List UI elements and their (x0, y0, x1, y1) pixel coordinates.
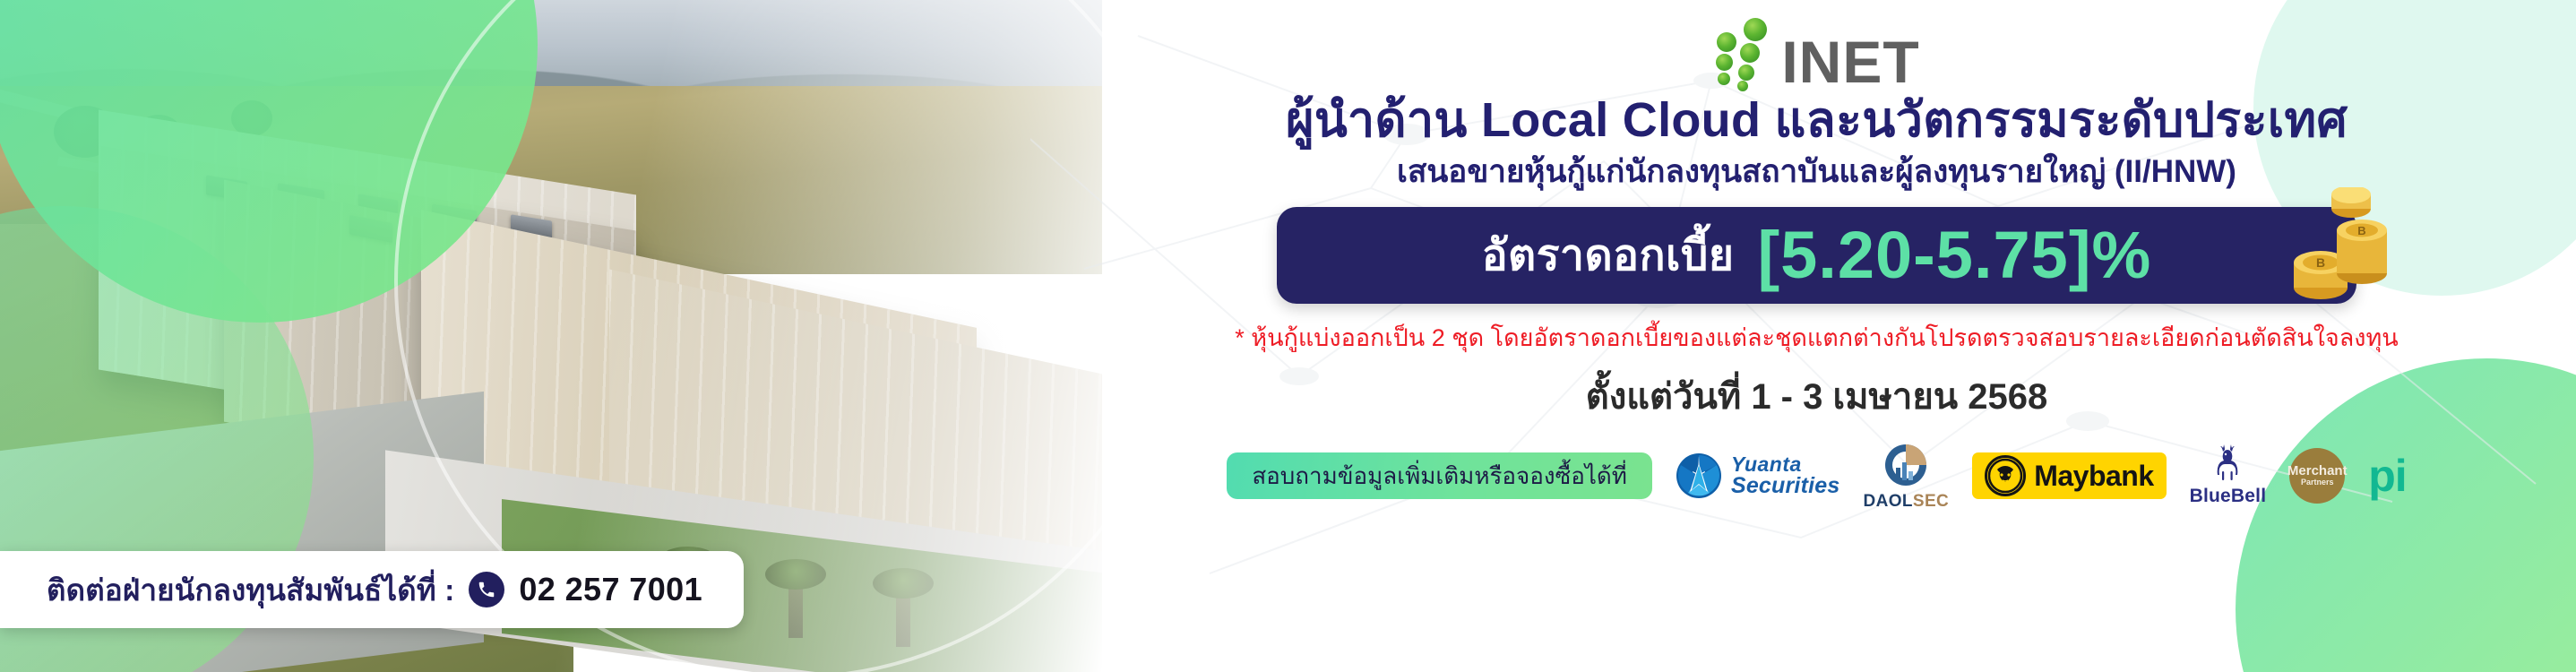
investor-relations-contact[interactable]: ติดต่อฝ่ายนักลงทุนสัมพันธ์ได้ที่ : 02 25… (0, 551, 744, 628)
svg-text:B: B (2357, 224, 2365, 237)
bluebell-deer-icon (2208, 444, 2247, 484)
merchant-line2: Partners (2301, 478, 2334, 488)
bluebell-wordmark: BlueBell (2190, 486, 2267, 507)
yuanta-star-icon (1676, 452, 1722, 499)
banner-content: INET ผู้นำด้าน Local Cloud และนวัตกรรมระ… (1057, 0, 2576, 672)
contact-label: ติดต่อฝ่ายนักลงทุนสัมพันธ์ได้ที่ : (47, 566, 454, 614)
daol-line2: SEC (1913, 492, 1949, 511)
gold-coins-icon: B B (2269, 187, 2403, 322)
inet-logo-text: INET (1781, 37, 1919, 88)
daol-wordmark: DAOLSEC (1863, 492, 1949, 512)
broker-logo-pi[interactable]: pi (2368, 456, 2406, 496)
inet-bubbles-logo-icon (1713, 16, 1774, 88)
broker-logos: Yuanta Securities DAOLSEC (1676, 441, 2407, 512)
inquiry-cta-button[interactable]: สอบถามข้อมูลเพิ่มเติมหรือจองซื้อได้ที่ (1227, 452, 1652, 499)
phone-icon (469, 572, 504, 607)
daol-circle-icon (1882, 441, 1930, 489)
daol-line1: DAOL (1863, 492, 1912, 511)
promotional-banner: ติดต่อฝ่ายนักลงทุนสัมพันธ์ได้ที่ : 02 25… (0, 0, 2576, 672)
page-subtitle: เสนอขายหุ้นกู้แก่นักลงทุนสถาบันและผู้ลงท… (1397, 154, 2236, 190)
yuanta-line1: Yuanta (1731, 454, 1840, 475)
broker-logo-bluebell[interactable]: BlueBell (2190, 444, 2267, 507)
merchant-line1: Merchant (2287, 464, 2348, 478)
broker-logo-daol[interactable]: DAOLSEC (1863, 441, 1949, 512)
bottom-row: สอบถามข้อมูลเพิ่มเติมหรือจองซื้อได้ที่ (1227, 441, 2406, 512)
broker-logo-maybank[interactable]: Maybank (1972, 452, 2166, 499)
contact-phone-number: 02 257 7001 (519, 571, 702, 608)
interest-rate-label: อัตราดอกเบี้ย (1482, 221, 1735, 289)
interest-rate-value: [5.20-5.75]% (1758, 222, 2152, 289)
broker-logo-yuanta[interactable]: Yuanta Securities (1676, 452, 1840, 499)
broker-logo-merchant-partners[interactable]: Merchant Partners (2289, 448, 2345, 504)
maybank-tiger-icon (1985, 455, 2026, 496)
maybank-wordmark: Maybank (2034, 460, 2153, 493)
offering-dateline: ตั้งแต่วันที่ 1 - 3 เมษายน 2568 (1586, 367, 2047, 425)
page-title: ผู้นำด้าน Local Cloud และนวัตกรรมระดับปร… (1286, 93, 2348, 147)
interest-rate-banner: อัตราดอกเบี้ย [5.20-5.75]% B B (1277, 207, 2356, 304)
logo-row: INET (1713, 11, 1919, 88)
yuanta-line2: Securities (1731, 475, 1840, 497)
svg-text:B: B (2316, 255, 2325, 270)
inet-logo: INET (1713, 16, 1919, 88)
yuanta-wordmark: Yuanta Securities (1731, 454, 1840, 497)
interest-rate-footnote: * หุ้นกู้แบ่งออกเป็น 2 ชุด โดยอัตราดอกเบ… (1235, 318, 2398, 357)
